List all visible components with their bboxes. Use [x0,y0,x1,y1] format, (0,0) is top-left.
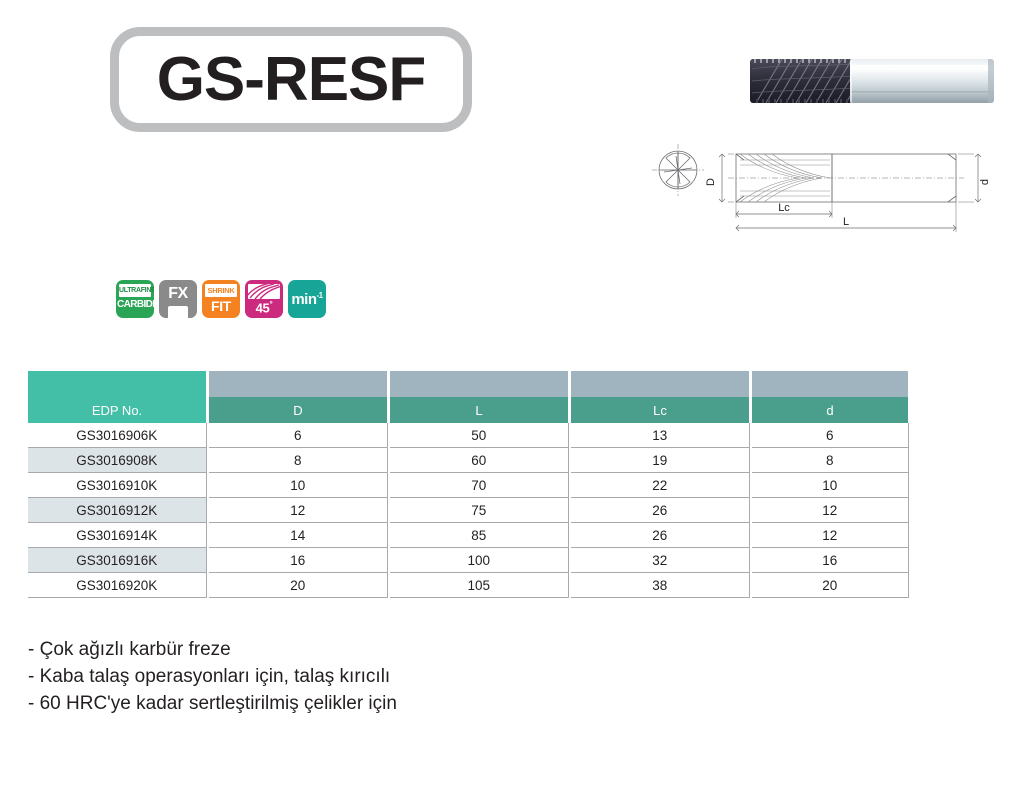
badge-min-label: min-1 [288,291,326,308]
cell-edp: GS3016920K [28,573,206,598]
cell-D: 10 [209,473,387,498]
cell-D: 8 [209,448,387,473]
cell-D: 6 [209,423,387,448]
feature-badges: ULTRAFINE CARBIDE FX SHRINK FIT 45° mi [116,280,326,318]
cell-d: 16 [752,548,908,573]
cell-L: 100 [390,548,568,573]
description-line-3: - 60 HRC'ye kadar sertleştirilmiş çelikl… [28,690,397,717]
cell-D: 20 [209,573,387,598]
cell-d: 6 [752,423,908,448]
band-gray-d [209,371,387,397]
column-header-D: D [209,397,387,423]
dim-label-Lc: Lc [778,202,790,214]
dim-label-d: d [979,179,991,185]
cell-Lc: 13 [571,423,749,448]
cell-edp: GS3016916K [28,548,206,573]
helix-icon [248,284,280,299]
cell-d: 12 [752,498,908,523]
cell-d: 8 [752,448,908,473]
cell-edp: GS3016906K [28,423,206,448]
product-description: - Çok ağızlı karbür freze - Kaba talaş o… [28,636,397,717]
cell-Lc: 19 [571,448,749,473]
band-gray-d-minor [752,371,908,397]
table-row: GS3016914K 14 85 26 12 [28,523,908,548]
cell-Lc: 26 [571,523,749,548]
band-gray-lc [571,371,749,397]
column-header-edp: EDP No. [28,397,206,423]
badge-fx-label: FX [159,285,197,303]
badge-45deg-label: 45° [245,300,283,315]
table-row: GS3016906K 6 50 13 6 [28,423,908,448]
technical-drawing: D d Lc L [648,138,998,241]
band-gray-l [390,371,568,397]
cell-D: 12 [209,498,387,523]
product-title-plate: GS-RESF [110,27,472,132]
badge-min-inverse: min-1 [288,280,326,318]
cell-L: 50 [390,423,568,448]
description-line-1: - Çok ağızlı karbür freze [28,636,397,663]
cell-Lc: 38 [571,573,749,598]
description-line-2: - Kaba talaş operasyonları için, talaş k… [28,663,397,690]
fx-holder-shape [168,306,188,318]
table-row: GS3016910K 10 70 22 10 [28,473,908,498]
badge-helix-45deg: 45° [245,280,283,318]
table-row: GS3016920K 20 105 38 20 [28,573,908,598]
badge-carbide-label: CARBIDE [117,299,153,310]
table-row: GS3016912K 12 75 26 12 [28,498,908,523]
badge-fx-coating: FX [159,280,197,318]
band-edp [28,371,206,397]
column-header-d: d [752,397,908,423]
badge-fit-label: FIT [202,298,240,314]
table-header-row: EDP No. D L Lc d [28,397,908,423]
page-title: GS-RESF [157,49,426,111]
dim-label-L: L [843,216,849,228]
cell-edp: GS3016912K [28,498,206,523]
cell-L: 85 [390,523,568,548]
cell-Lc: 32 [571,548,749,573]
specification-table: EDP No. D L Lc d GS3016906K 6 50 13 6 GS… [28,371,909,598]
product-photo [742,45,1000,120]
cell-L: 75 [390,498,568,523]
table-top-band [28,371,908,397]
cell-L: 60 [390,448,568,473]
cell-Lc: 26 [571,498,749,523]
cell-edp: GS3016914K [28,523,206,548]
column-header-Lc: Lc [571,397,749,423]
cell-edp: GS3016910K [28,473,206,498]
column-header-L: L [390,397,568,423]
cell-edp: GS3016908K [28,448,206,473]
table-row: GS3016916K 16 100 32 16 [28,548,908,573]
cell-D: 16 [209,548,387,573]
cell-d: 20 [752,573,908,598]
badge-ultrafine-label: ULTRAFINE [119,284,151,297]
cell-L: 105 [390,573,568,598]
badge-shrink-fit: SHRINK FIT [202,280,240,318]
badge-ultrafine-carbide: ULTRAFINE CARBIDE [116,280,154,318]
cell-D: 14 [209,523,387,548]
cell-d: 10 [752,473,908,498]
table-row: GS3016908K 8 60 19 8 [28,448,908,473]
cell-L: 70 [390,473,568,498]
dim-label-D: D [705,178,717,186]
cell-d: 12 [752,523,908,548]
badge-shrink-label: SHRINK [205,284,237,297]
cell-Lc: 22 [571,473,749,498]
